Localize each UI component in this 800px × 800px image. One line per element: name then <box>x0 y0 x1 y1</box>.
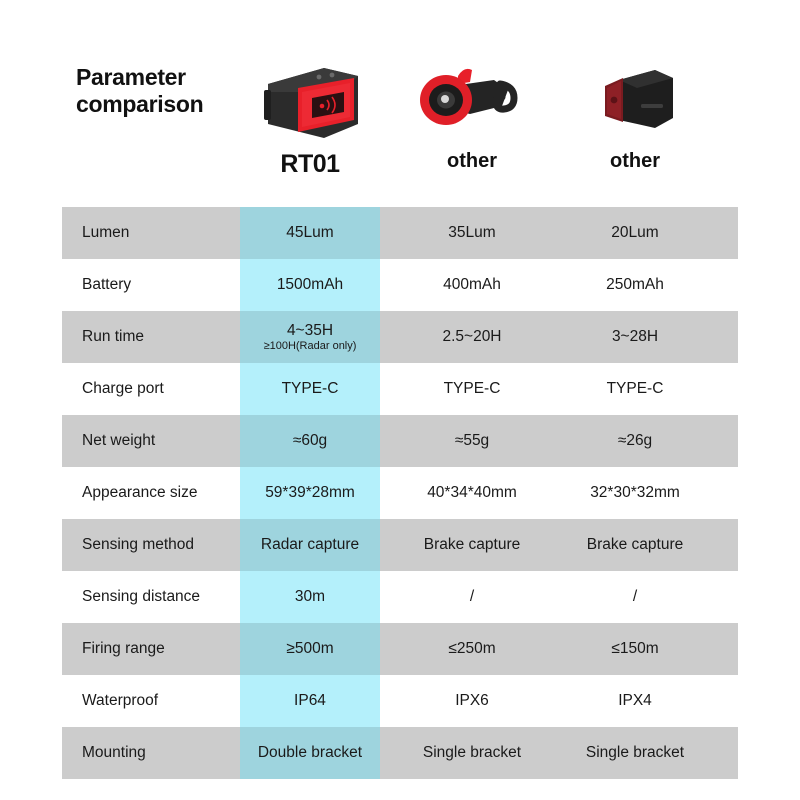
table-row: Waterproof IP64 IPX6 IPX4 <box>62 675 738 727</box>
row-value-subtext: ≥100H(Radar only) <box>264 340 357 352</box>
row-label: Lumen <box>62 207 240 259</box>
table-row: Appearance size 59*39*28mm 40*34*40mm 32… <box>62 467 738 519</box>
product-column-other-1: other <box>402 40 542 202</box>
row-label: Sensing distance <box>62 571 240 623</box>
row-label: Appearance size <box>62 467 240 519</box>
competitor-cube-light-image <box>565 48 705 148</box>
comparison-header: Parameter comparison <box>62 40 738 202</box>
row-value-text: 1500mAh <box>277 276 343 293</box>
row-value-other-2: IPX4 <box>565 675 705 727</box>
row-value-rt01: 4~35H ≥100H(Radar only) <box>240 311 380 363</box>
row-value-other-1: 40*34*40mm <box>402 467 542 519</box>
row-label: Sensing method <box>62 519 240 571</box>
product-column-rt01: RT01 <box>240 40 380 202</box>
row-value-rt01: ≥500m <box>240 623 380 675</box>
table-row: Sensing distance 30m / / <box>62 571 738 623</box>
table-row: Mounting Double bracket Single bracket S… <box>62 727 738 779</box>
row-value-rt01: IP64 <box>240 675 380 727</box>
row-value-text: 59*39*28mm <box>265 484 355 501</box>
row-value-rt01: 59*39*28mm <box>240 467 380 519</box>
row-label: Run time <box>62 311 240 363</box>
table-row: Lumen 45Lum 35Lum 20Lum <box>62 207 738 259</box>
row-value-text: 30m <box>295 588 325 605</box>
table-row: Sensing method Radar capture Brake captu… <box>62 519 738 571</box>
row-value-other-2: 250mAh <box>565 259 705 311</box>
row-value-other-1: 35Lum <box>402 207 542 259</box>
row-value-other-2: / <box>565 571 705 623</box>
row-value-text: TYPE-C <box>282 380 339 397</box>
row-label: Charge port <box>62 363 240 415</box>
row-value-other-1: ≤250m <box>402 623 542 675</box>
row-value-other-1: Single bracket <box>402 727 542 779</box>
row-value-text: IP64 <box>294 692 326 709</box>
row-value-text: 4~35H <box>287 322 333 339</box>
row-value-other-2: Brake capture <box>565 519 705 571</box>
parameter-comparison-table: Lumen 45Lum 35Lum 20Lum Battery 1500mAh … <box>62 207 738 779</box>
page-title-line-1: Parameter <box>76 64 256 91</box>
row-label: Firing range <box>62 623 240 675</box>
row-value-text: ≈60g <box>293 432 327 449</box>
table-row: Charge port TYPE-C TYPE-C TYPE-C <box>62 363 738 415</box>
row-value-other-2: Single bracket <box>565 727 705 779</box>
row-value-text: 45Lum <box>286 224 333 241</box>
row-value-rt01: ≈60g <box>240 415 380 467</box>
row-value-other-2: 3~28H <box>565 311 705 363</box>
row-value-rt01: 45Lum <box>240 207 380 259</box>
row-value-rt01: Radar capture <box>240 519 380 571</box>
product-name-other-1: other <box>402 150 542 173</box>
row-value-other-1: 400mAh <box>402 259 542 311</box>
row-value-other-1: Brake capture <box>402 519 542 571</box>
page-title-line-2: comparison <box>76 91 256 118</box>
table-row: Run time 4~35H ≥100H(Radar only) 2.5~20H… <box>62 311 738 363</box>
row-value-text: ≥500m <box>286 640 333 657</box>
row-value-rt01: 1500mAh <box>240 259 380 311</box>
row-label: Mounting <box>62 727 240 779</box>
page-title: Parameter comparison <box>76 64 256 118</box>
row-value-rt01: 30m <box>240 571 380 623</box>
row-value-other-1: ≈55g <box>402 415 542 467</box>
row-label: Net weight <box>62 415 240 467</box>
row-value-other-1: 2.5~20H <box>402 311 542 363</box>
row-label: Battery <box>62 259 240 311</box>
product-name-other-2: other <box>565 150 705 173</box>
row-value-other-1: / <box>402 571 542 623</box>
row-label: Waterproof <box>62 675 240 727</box>
row-value-rt01: TYPE-C <box>240 363 380 415</box>
product-name-rt01: RT01 <box>240 150 380 179</box>
rt01-product-image <box>240 48 380 148</box>
competitor-hook-light-image <box>402 48 542 148</box>
row-value-other-1: TYPE-C <box>402 363 542 415</box>
row-value-text: Radar capture <box>261 536 359 553</box>
row-value-other-2: ≤150m <box>565 623 705 675</box>
row-value-other-2: ≈26g <box>565 415 705 467</box>
row-value-other-2: 32*30*32mm <box>565 467 705 519</box>
row-value-rt01: Double bracket <box>240 727 380 779</box>
product-column-other-2: other <box>565 40 705 202</box>
row-value-text: Double bracket <box>258 744 362 761</box>
table-row: Battery 1500mAh 400mAh 250mAh <box>62 259 738 311</box>
table-row: Net weight ≈60g ≈55g ≈26g <box>62 415 738 467</box>
row-value-other-2: TYPE-C <box>565 363 705 415</box>
row-value-other-2: 20Lum <box>565 207 705 259</box>
table-row: Firing range ≥500m ≤250m ≤150m <box>62 623 738 675</box>
row-value-other-1: IPX6 <box>402 675 542 727</box>
